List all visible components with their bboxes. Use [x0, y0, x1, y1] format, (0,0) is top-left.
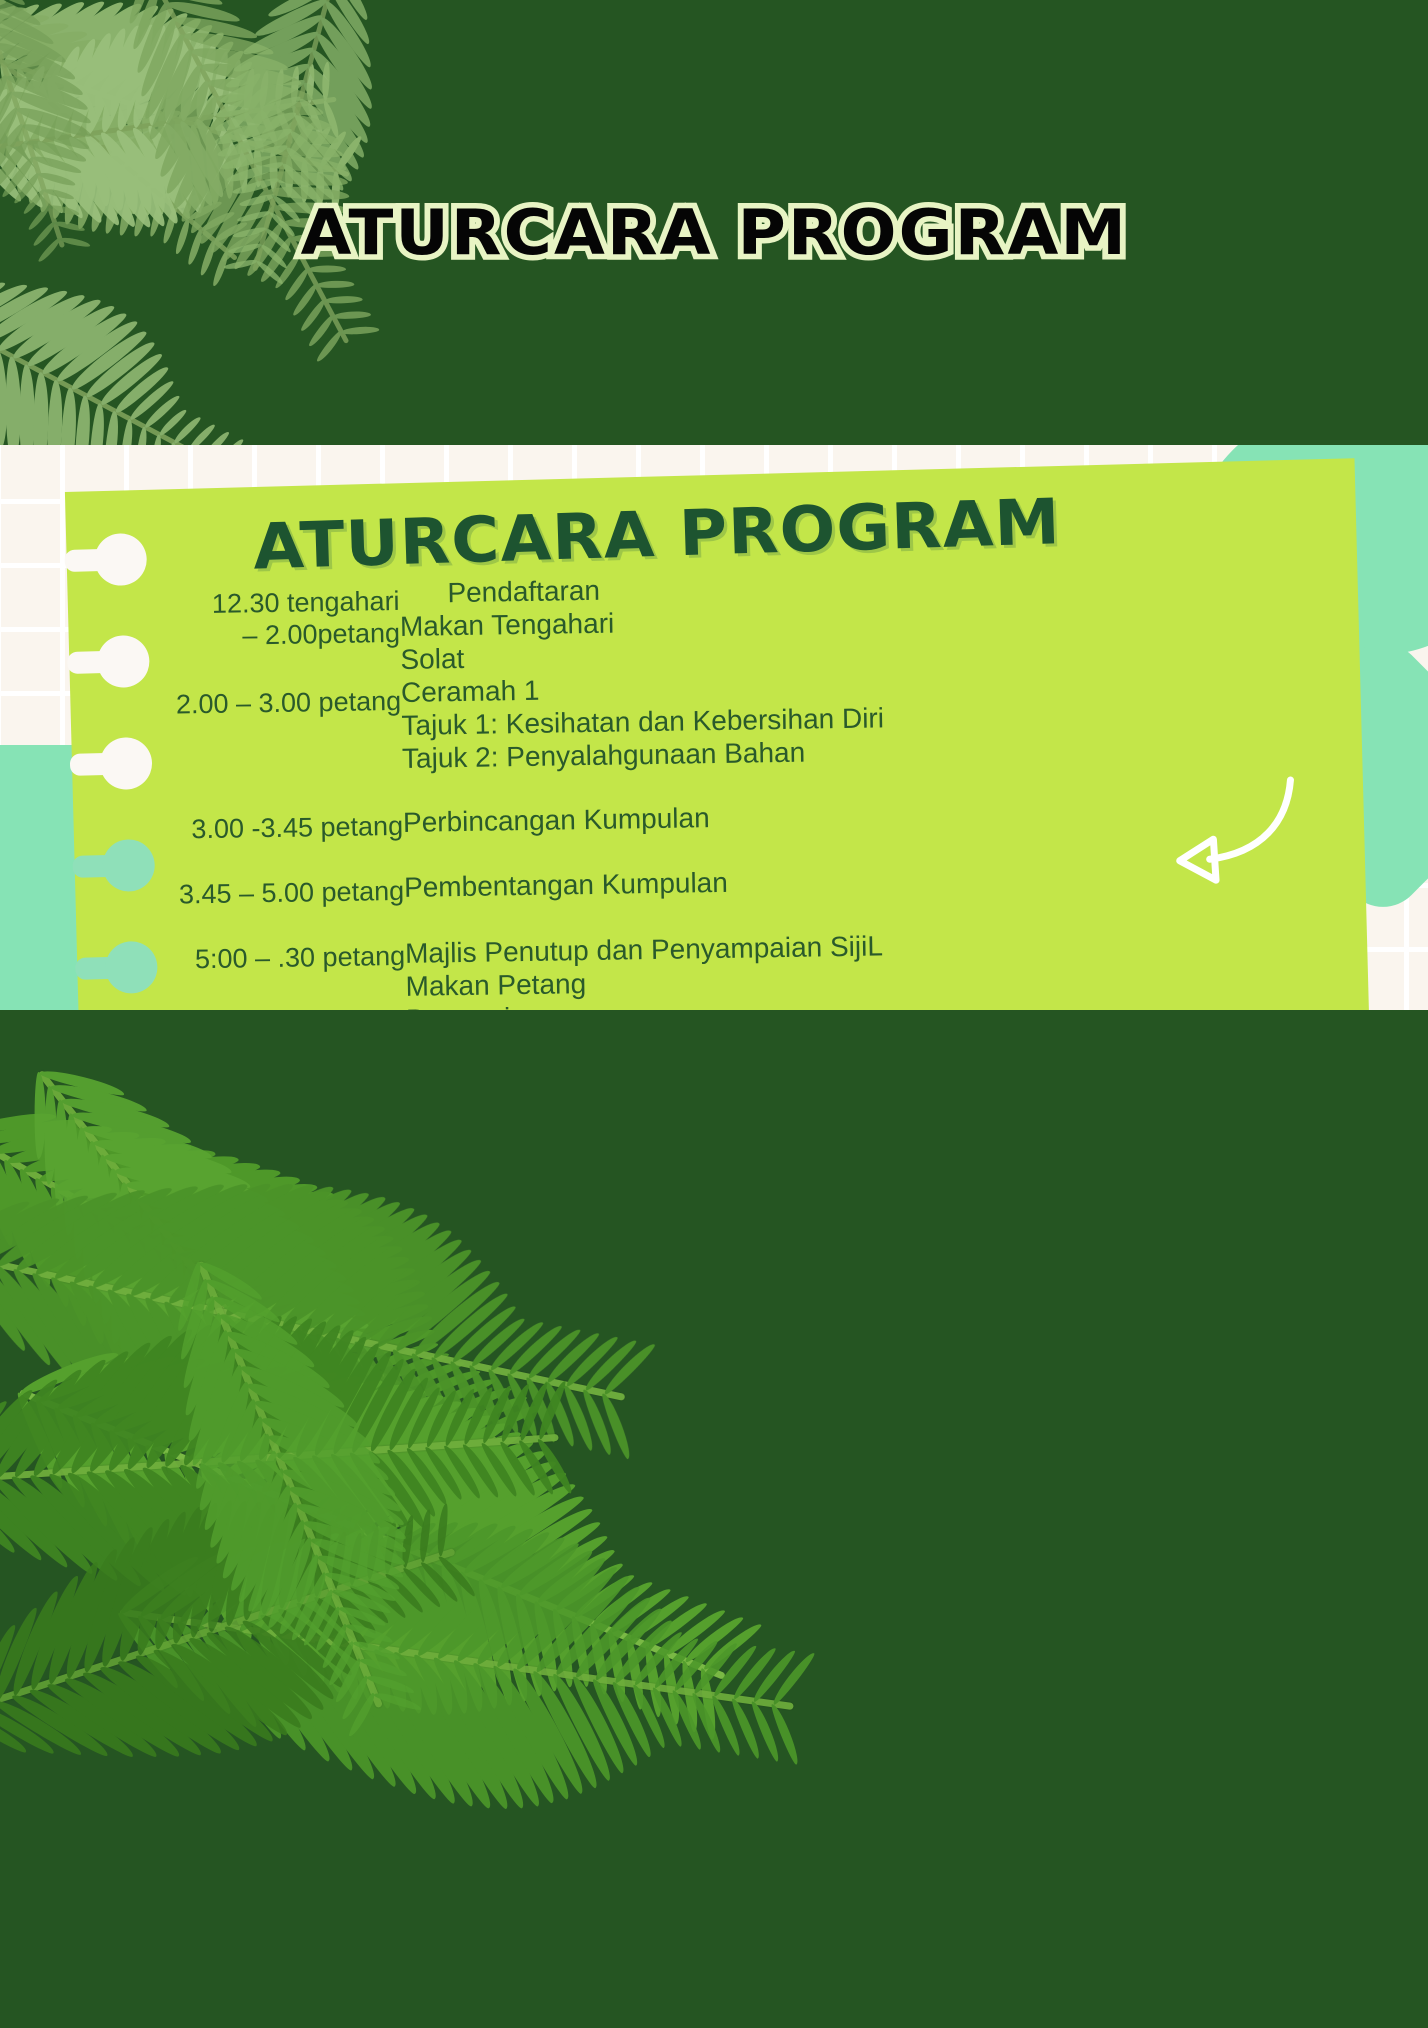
- activity-perbincangan-kumpulan: Perbincangan Kumpulan: [403, 804, 710, 837]
- card-title: ATURCARA PROGRAM: [252, 485, 1062, 583]
- activity-ceramah-1: Ceramah 1: [401, 677, 540, 707]
- activity-makan-tengahari: Makan Tengahari: [400, 610, 615, 641]
- poster-canvas: ATURCARA PROGRAM ATURCARA PROGRAM 12.30 …: [0, 0, 1428, 2028]
- activity-pendaftaran: Pendaftaran: [399, 577, 600, 608]
- schedule-section: ATURCARA PROGRAM 12.30 tengahari – 2.00p…: [0, 445, 1428, 1010]
- time-slot-3: 3.00 -3.45 petang: [191, 810, 403, 846]
- schedule-times-column: 12.30 tengahari – 2.00petang 2.00 – 3.00…: [99, 585, 399, 590]
- activity-pembentangan-kumpulan: Pembentangan Kumpulan: [404, 869, 728, 902]
- activity-tajuk-2: Tajuk 2: Penyalahgunaan Bahan: [402, 739, 806, 773]
- time-slot-1-line2: – 2.00petang: [242, 617, 400, 652]
- footer-band: [0, 1010, 1428, 2028]
- page-title: ATURCARA PROGRAM: [300, 196, 1127, 269]
- time-slot-2: 2.00 – 3.00 petang: [176, 685, 402, 721]
- activity-majlis-penutup: Majlis Penutup dan Penyampaian SijiL: [405, 932, 883, 968]
- activity-makan-petang: Makan Petang: [405, 970, 586, 1001]
- time-slot-1-line1: 12.30 tengahari: [212, 585, 400, 620]
- activity-tajuk-1: Tajuk 1: Kesihatan dan Kebersihan Diri: [401, 704, 884, 740]
- time-slot-5: 5:00 – .30 petang: [195, 940, 406, 976]
- activity-solat: Solat: [400, 645, 464, 674]
- curved-arrow-left-icon: [1150, 766, 1302, 888]
- time-slot-4: 3.45 – 5.00 petang: [179, 875, 405, 911]
- schedule-note-card: ATURCARA PROGRAM 12.30 tengahari – 2.00p…: [65, 458, 1369, 1010]
- page-title-container: ATURCARA PROGRAM: [0, 196, 1428, 269]
